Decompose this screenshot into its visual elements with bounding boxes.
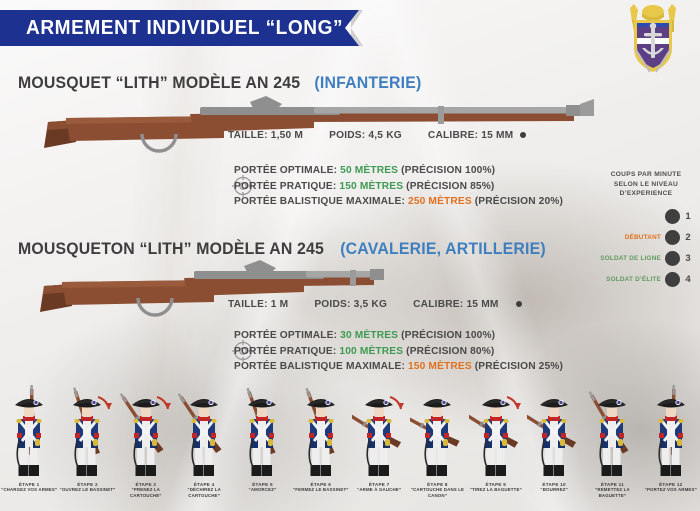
caliber-dot-icon <box>516 301 522 307</box>
soldier-figure-icon <box>235 383 289 481</box>
weapon-2-heading: MOUSQUETON “LITH” MODÈLE AN 245 (CAVALER… <box>18 240 546 259</box>
rof-dot-icon <box>665 272 680 287</box>
loading-step-6: ÉTAPE 6“FERMEZ LE BASSINET” <box>292 383 350 511</box>
soldier-figure-icon <box>410 383 464 481</box>
soldier-figure-icon <box>177 383 231 481</box>
soldier-figure-icon <box>352 383 406 481</box>
rof-count: 3 <box>680 253 696 264</box>
rof-label: SOLDAT DE LIGNE <box>600 255 665 262</box>
range-optimale: PORTÉE OPTIMALE: 30 MÈTRES (PRÉCISION 10… <box>234 328 563 344</box>
step-label: “BOURREZ” <box>540 487 567 493</box>
step-label: “CARTOUCHE DANS LE CANON” <box>408 487 466 498</box>
step-label: “AMORCEZ” <box>249 487 277 493</box>
infographic-page: ARMEMENT INDIVIDUEL “LONG” MOUSQUET “LIT… <box>0 0 700 511</box>
loading-steps-strip: ÉTAPE 1“CHARGEZ VOS ARMES” <box>0 383 700 511</box>
loading-step-5: ÉTAPE 5“AMORCEZ” <box>233 383 291 511</box>
step-label: “OUVREZ LE BASSINET” <box>60 487 116 493</box>
rof-label: DÉBUTANT <box>625 234 665 241</box>
range-balistique-maximale: PORTÉE BALISTIQUE MAXIMALE: 150 MÈTRES (… <box>234 359 563 375</box>
weapon-1-ranges: PORTÉE OPTIMALE: 50 MÈTRES (PRÉCISION 10… <box>234 163 563 210</box>
soldier-figure-icon <box>294 383 348 481</box>
musket-with-bayonet-icon <box>14 94 594 156</box>
loading-step-4: ÉTAPE 4“DÉCHIREZ LA CARTOUCHE” <box>175 383 233 511</box>
rof-dot-icon <box>665 230 680 245</box>
weapon-1-heading: MOUSQUET “LITH” MODÈLE AN 245 (INFANTERI… <box>18 74 421 93</box>
range-optimale: PORTÉE OPTIMALE: 50 MÈTRES (PRÉCISION 10… <box>234 163 563 179</box>
rate-of-fire-legend: COUPS PAR MINUTE SELON LE NIVEAU D’EXPER… <box>596 170 696 290</box>
soldier-figure-icon <box>527 383 581 481</box>
loading-step-1: ÉTAPE 1“CHARGEZ VOS ARMES” <box>0 383 58 511</box>
rof-row-soldat-de-ligne: SOLDAT DE LIGNE 3 <box>596 248 696 269</box>
rof-dot-icon <box>665 209 680 224</box>
range-balistique-maximale: PORTÉE BALISTIQUE MAXIMALE: 250 MÈTRES (… <box>234 194 563 210</box>
spec-taille: TAILLE: 1 M <box>228 299 288 310</box>
loading-step-11: ÉTAPE 11“REMETTEZ LA BAGUETTE” <box>583 383 641 511</box>
rate-of-fire-title: COUPS PAR MINUTE SELON LE NIVEAU D’EXPER… <box>596 170 696 199</box>
loading-step-7: ÉTAPE 7“ARME À GAUCHE” <box>350 383 408 511</box>
step-label: “FERMEZ LE BASSINET” <box>293 487 349 493</box>
range-pratique: PORTÉE PRATIQUE: 100 MÈTRES (PRÉCISION 8… <box>234 344 563 360</box>
soldier-figure-icon <box>585 383 639 481</box>
weapon-1-branch: (INFANTERIE) <box>314 74 421 92</box>
weapon-1-name: MOUSQUET “LITH” MODÈLE AN 245 <box>18 74 300 92</box>
loading-step-12: ÉTAPE 12“PORTEZ VOS ARMES” <box>642 383 700 511</box>
step-label: “CHARGEZ VOS ARMES” <box>1 487 57 493</box>
spec-taille: TAILLE: 1,50 M <box>228 130 303 141</box>
weapon-2-ranges: PORTÉE OPTIMALE: 30 MÈTRES (PRÉCISION 10… <box>234 328 563 375</box>
soldier-figure-icon <box>119 383 173 481</box>
range-pratique: PORTÉE PRATIQUE: 150 MÈTRES (PRÉCISION 8… <box>234 179 563 195</box>
soldier-figure-icon <box>469 383 523 481</box>
soldier-figure-icon <box>60 383 114 481</box>
loading-step-2: ÉTAPE 2“OUVREZ LE BASSINET” <box>58 383 116 511</box>
header-banner: ARMEMENT INDIVIDUEL “LONG” <box>0 10 345 46</box>
rof-row-debutant: DÉBUTANT 2 <box>596 227 696 248</box>
weapon-2-branch: (CAVALERIE, ARTILLERIE) <box>340 240 546 258</box>
soldier-figure-icon <box>2 383 56 481</box>
rof-row-1: 1 <box>596 206 696 227</box>
step-label: “DÉCHIREZ LA CARTOUCHE” <box>175 487 233 498</box>
military-crest-icon <box>620 2 686 76</box>
step-label: “TIREZ LA BAGUETTE” <box>470 487 522 493</box>
spec-calibre: CALIBRE: 15 MM <box>428 130 526 141</box>
rof-count: 4 <box>680 274 696 285</box>
page-title: ARMEMENT INDIVIDUEL “LONG” <box>26 16 343 40</box>
carbine-icon <box>14 258 384 320</box>
weapon-2-name: MOUSQUETON “LITH” MODÈLE AN 245 <box>18 240 324 258</box>
rof-label: SOLDAT D’ÉLITE <box>606 276 665 283</box>
step-label: “ARME À GAUCHE” <box>357 487 401 493</box>
loading-step-3: ÉTAPE 3“PRENEZ LA CARTOUCHE” <box>117 383 175 511</box>
step-label: “PRENEZ LA CARTOUCHE” <box>117 487 175 498</box>
rof-dot-icon <box>665 251 680 266</box>
weapon-1-specs: TAILLE: 1,50 M POIDS: 4,5 KG CALIBRE: 15… <box>228 130 552 141</box>
banner-notch <box>345 10 359 46</box>
rof-count: 1 <box>680 211 696 222</box>
loading-step-10: ÉTAPE 10“BOURREZ” <box>525 383 583 511</box>
spec-poids: POIDS: 3,5 KG <box>314 299 387 310</box>
rof-count: 2 <box>680 232 696 243</box>
caliber-dot-icon <box>520 132 526 138</box>
weapon-2-specs: TAILLE: 1 M POIDS: 3,5 KG CALIBRE: 15 MM <box>228 299 548 310</box>
loading-step-9: ÉTAPE 9“TIREZ LA BAGUETTE” <box>467 383 525 511</box>
step-label: “REMETTEZ LA BAGUETTE” <box>583 487 641 498</box>
spec-calibre: CALIBRE: 15 MM <box>413 299 521 310</box>
rof-row-soldat-delite: SOLDAT D’ÉLITE 4 <box>596 269 696 290</box>
step-label: “PORTEZ VOS ARMES” <box>645 487 697 493</box>
loading-step-8: ÉTAPE 8“CARTOUCHE DANS LE CANON” <box>408 383 466 511</box>
spec-poids: POIDS: 4,5 KG <box>329 130 402 141</box>
soldier-figure-icon <box>644 383 698 481</box>
